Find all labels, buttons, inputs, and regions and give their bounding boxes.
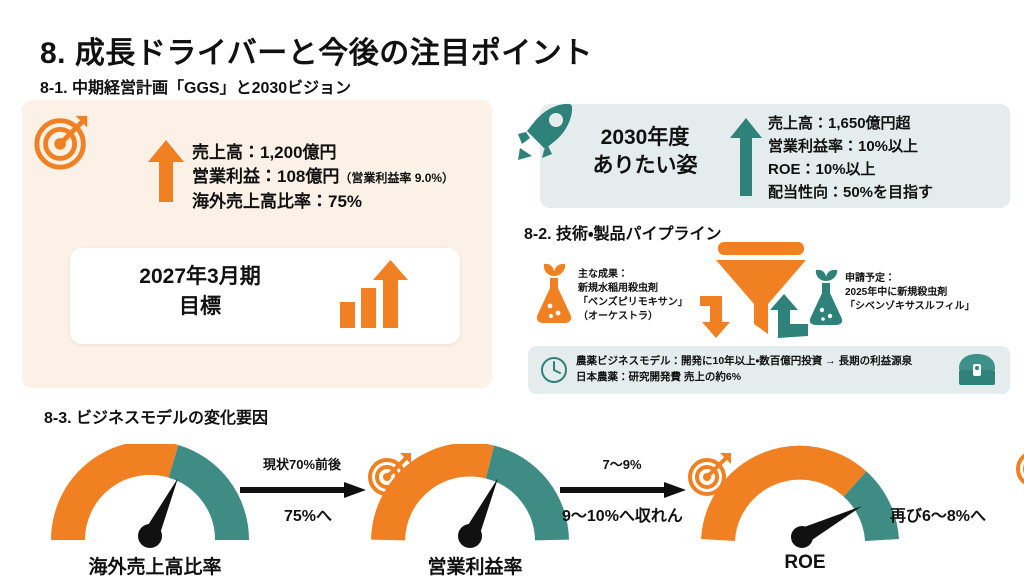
gauge-annotation: 再び6〜8%へ: [882, 444, 1024, 554]
arrow-down-icon: [700, 296, 730, 338]
gauge-label: ROE: [700, 552, 910, 574]
section-82-heading: 8-2. 技術・製品パイプライン: [524, 220, 721, 244]
pipeline-left-line: 主な成果：: [578, 268, 688, 282]
up-arrow-icon: [730, 118, 762, 196]
arrow-up-right-icon: [770, 294, 808, 338]
gauge-dial: [370, 444, 580, 552]
up-arrow-icon: [148, 140, 184, 202]
gauge-label: 営業利益率: [370, 552, 580, 579]
kpi-line: 売上高：1,200億円: [192, 141, 454, 165]
kpi-line: ROE：10%以上: [768, 158, 933, 181]
page-title: 8. 成長ドライバーと今後の注目ポイント: [40, 28, 593, 72]
pipeline-right-line: 申請予定：: [845, 272, 975, 286]
pipeline-left-text: 主な成果： 新規水稲用殺虫剤 「ベンズピリモキサン」 （オーケストラ）: [578, 268, 688, 324]
kpi-line: 海外売上高比率：75%: [192, 190, 454, 214]
section-81-heading: 8-1. 中期経営計画「GGS」と2030ビジョン: [40, 74, 351, 98]
treasure-chest-icon: [955, 352, 999, 388]
vision-2030-label: 2030年度 ありたい姿: [570, 124, 720, 180]
pipeline-left-line: （オーケストラ）: [578, 310, 688, 324]
gauge-label: 海外売上高比率: [50, 552, 260, 579]
vision-kpi-list: 売上高：1,650億円超 営業利益率：10%以上 ROE：10%以上 配当性向：…: [768, 112, 933, 204]
flask-sprout-icon: [533, 262, 575, 324]
pipeline-right-line: 「シベンゾキサスルフィル」: [845, 300, 975, 314]
gauge-dial: [50, 444, 260, 552]
rocket-icon: [512, 98, 578, 164]
pipeline-left-line: 新規水稲用殺虫剤: [578, 282, 688, 296]
gauge-dial: [700, 444, 910, 552]
vision-line-2: ありたい姿: [570, 152, 720, 180]
target-fy2027-label: 2027年3月期 目標: [90, 262, 310, 322]
target-arrow-icon: [1014, 442, 1024, 490]
section-83-heading: 8-3. ビジネスモデルの変化要因: [44, 404, 268, 428]
kpi-line: 営業利益率：10%以上: [768, 135, 933, 158]
pipeline-left-line: 「ベンズピリモキサン」: [578, 296, 688, 310]
vision-line-1: 2030年度: [570, 124, 720, 152]
info-line-2: 日本農薬：研究開発費 売上の約6%: [576, 369, 912, 385]
gauge-note-top: 7〜9%: [552, 454, 692, 473]
mid-term-kpi-list: 売上高：1,200億円 営業利益：108億円（営業利益率 9.0%） 海外売上高…: [192, 141, 454, 214]
card-line-2: 目標: [90, 292, 310, 322]
card-line-1: 2027年3月期: [90, 262, 310, 292]
pipeline-right-line: 2025年中に新規殺虫剤: [845, 286, 975, 300]
pipeline-right-text: 申請予定： 2025年中に新規殺虫剤 「シベンゾキサスルフィル」: [845, 272, 975, 314]
bar-chart-growth-icon: [338, 258, 412, 330]
clock-icon: [540, 356, 568, 384]
arrow-right-icon: [240, 482, 366, 498]
kpi-line: 営業利益：108億円（営業利益率 9.0%）: [192, 165, 454, 190]
arrow-right-icon: [560, 482, 686, 498]
info-box-text: 農薬ビジネスモデル：開発に10年以上・数百億円投資 → 長期の利益源泉 日本農薬…: [576, 353, 912, 385]
slide-canvas: 8. 成長ドライバーと今後の注目ポイント 8-1. 中期経営計画「GGS」と20…: [0, 0, 1024, 572]
kpi-line: 配当性向：50%を目指す: [768, 181, 933, 204]
gauge-note-top: 現状70%前後: [232, 454, 372, 473]
flask-sprout-icon: [806, 268, 846, 326]
info-line-1: 農薬ビジネスモデル：開発に10年以上・数百億円投資 → 長期の利益源泉: [576, 353, 912, 369]
kpi-line: 売上高：1,650億円超: [768, 112, 933, 135]
gauge-note-bottom: 再び6〜8%へ: [890, 502, 1024, 526]
target-arrow-icon: [32, 110, 94, 172]
